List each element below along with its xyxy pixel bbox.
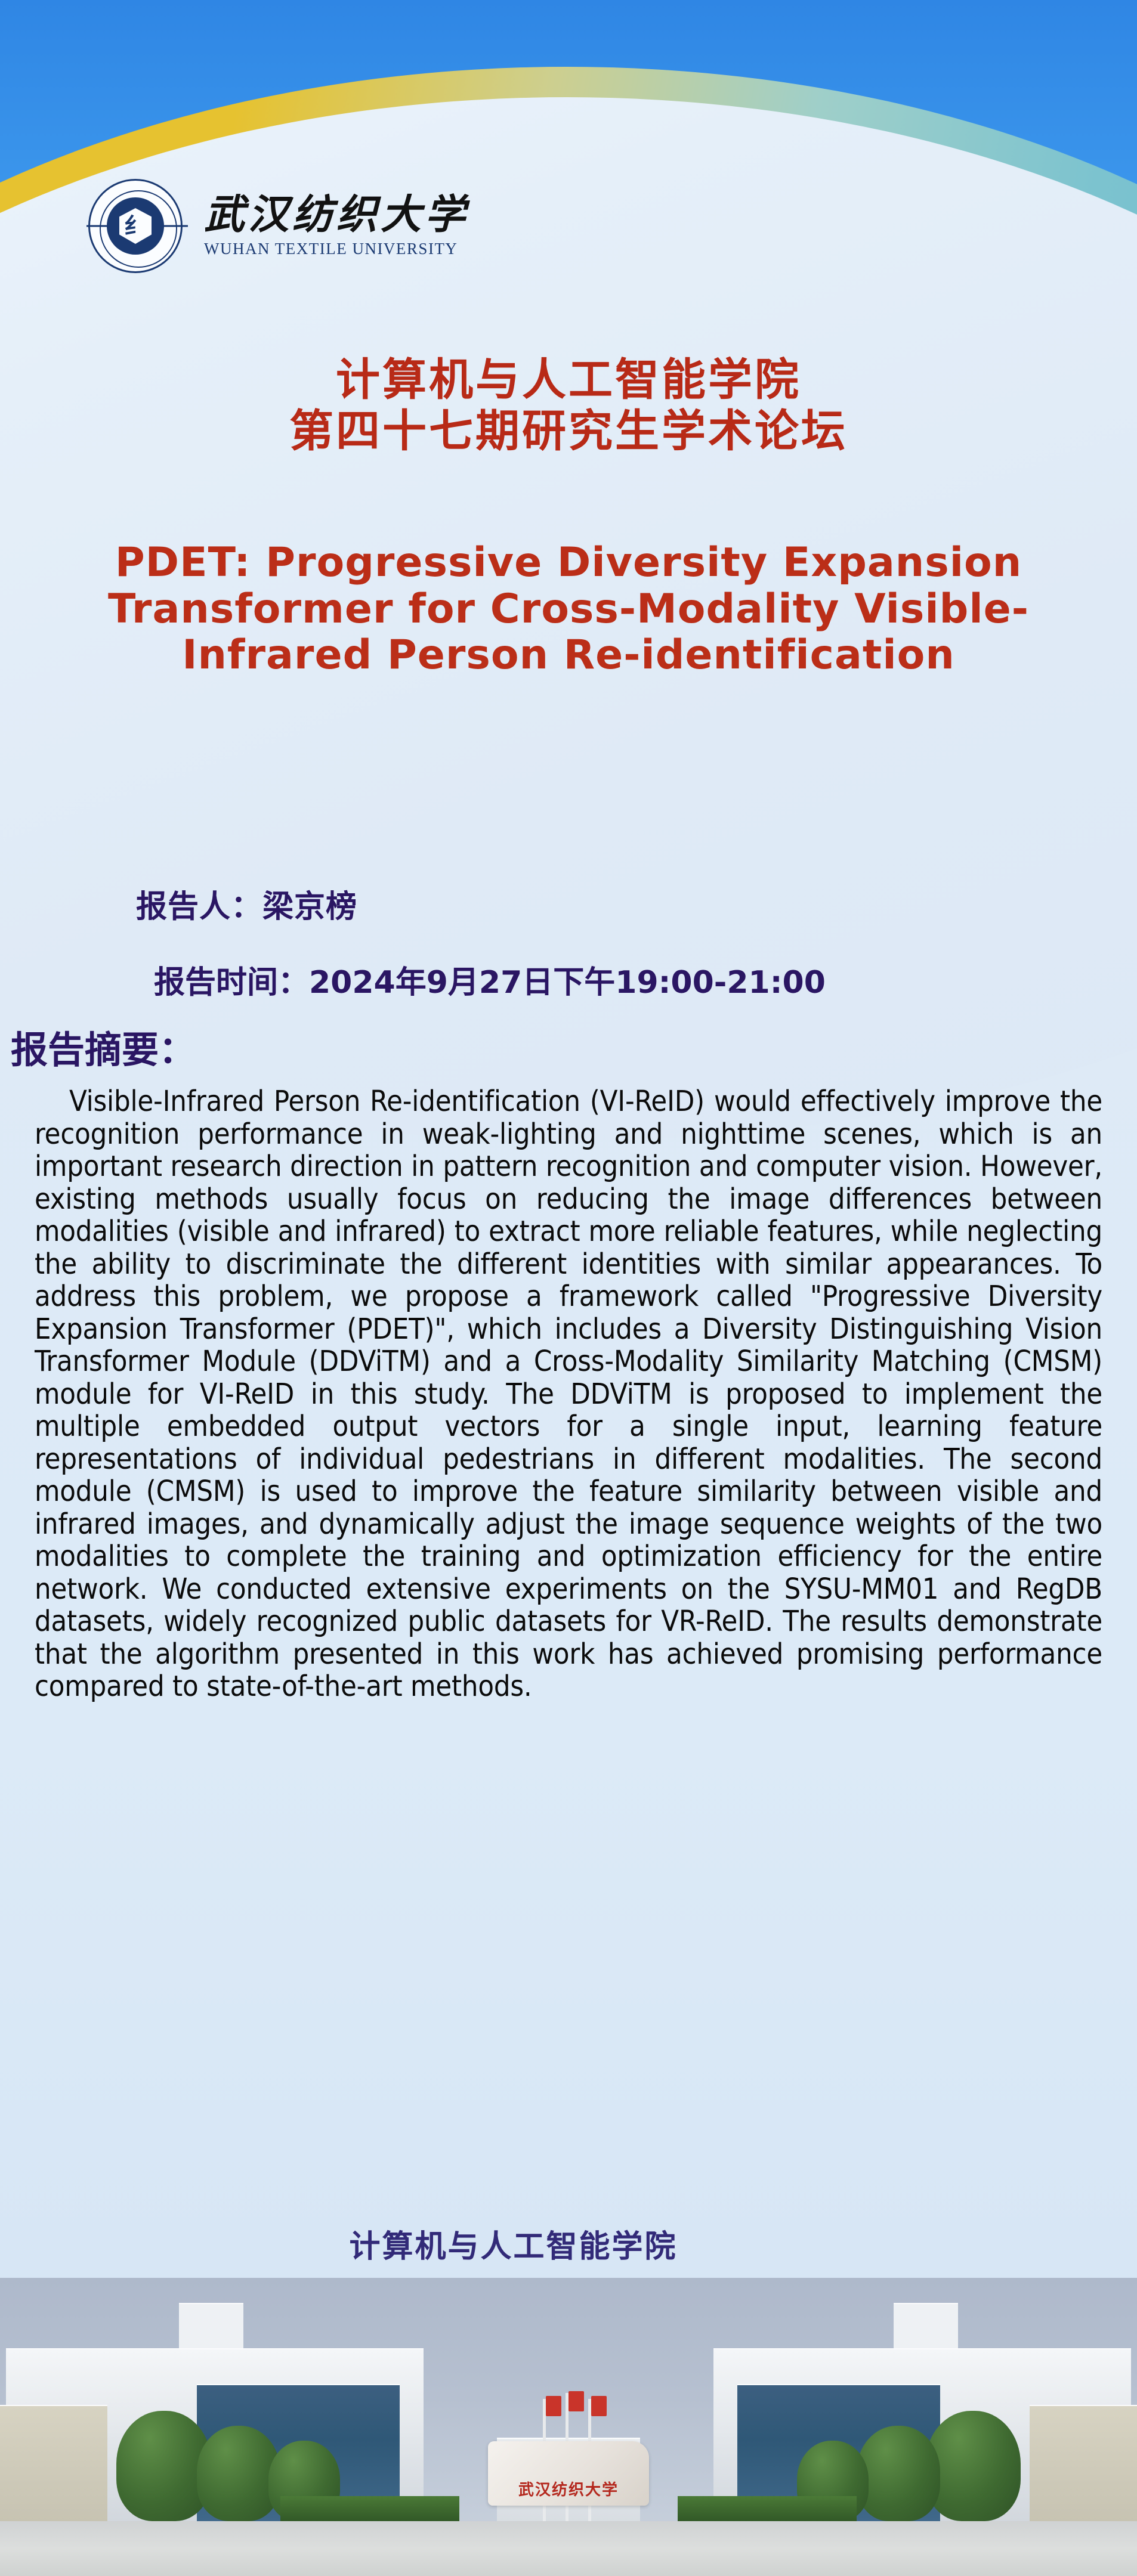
abstract-body: Visible-Infrared Person Re-identificatio… xyxy=(35,1085,1102,1703)
department-heading-line2: 第四十七期研究生学术论坛 xyxy=(0,406,1137,457)
photo-tree xyxy=(857,2426,940,2521)
photo-flag-2 xyxy=(568,2391,584,2411)
department-heading-line1: 计算机与人工智能学院 xyxy=(0,355,1137,406)
university-crest-icon: 纟 xyxy=(88,179,183,273)
crest-core: 纟 xyxy=(107,197,164,255)
footer-signature: 计算机与人工智能学院 xyxy=(0,2221,1137,2266)
photo-gate-wall-left xyxy=(0,2405,107,2521)
poster-page: 纟 武汉纺织大学 WUHAN TEXTILE UNIVERSITY 计算机与人工… xyxy=(0,0,1137,2576)
speaker-line: 报告人：梁京榜 xyxy=(136,881,357,926)
university-name-en: WUHAN TEXTILE UNIVERSITY xyxy=(204,240,469,258)
photo-tree xyxy=(197,2426,280,2521)
talk-time-line: 报告时间：2024年9月27日下午19:00-21:00 xyxy=(154,957,826,1002)
photo-rooftop-box-right xyxy=(894,2303,958,2348)
photo-hedge-left xyxy=(280,2496,459,2524)
photo-rooftop-box-left xyxy=(179,2303,243,2348)
paper-title: PDET: Progressive Diversity Expansion Tr… xyxy=(78,540,1059,679)
university-logo-row: 纟 武汉纺织大学 WUHAN TEXTILE UNIVERSITY xyxy=(88,179,469,273)
photo-ground xyxy=(0,2521,1137,2576)
department-heading: 计算机与人工智能学院 第四十七期研究生学术论坛 xyxy=(0,355,1137,457)
university-name-cn: 武汉纺织大学 xyxy=(204,194,469,235)
crest-shield: 纟 xyxy=(119,208,152,244)
abstract-label: 报告摘要： xyxy=(11,1020,196,1073)
crest-glyph: 纟 xyxy=(124,215,147,237)
photo-gate-wall-right xyxy=(1030,2405,1137,2521)
photo-flag-1 xyxy=(546,2396,561,2416)
campus-photo: 武汉纺织大学 xyxy=(0,2278,1137,2576)
photo-hedge-right xyxy=(678,2496,857,2524)
university-wordmark: 武汉纺织大学 WUHAN TEXTILE UNIVERSITY xyxy=(204,194,469,258)
photo-flag-3 xyxy=(591,2396,607,2416)
photo-monument-text: 武汉纺织大学 xyxy=(518,2478,619,2500)
